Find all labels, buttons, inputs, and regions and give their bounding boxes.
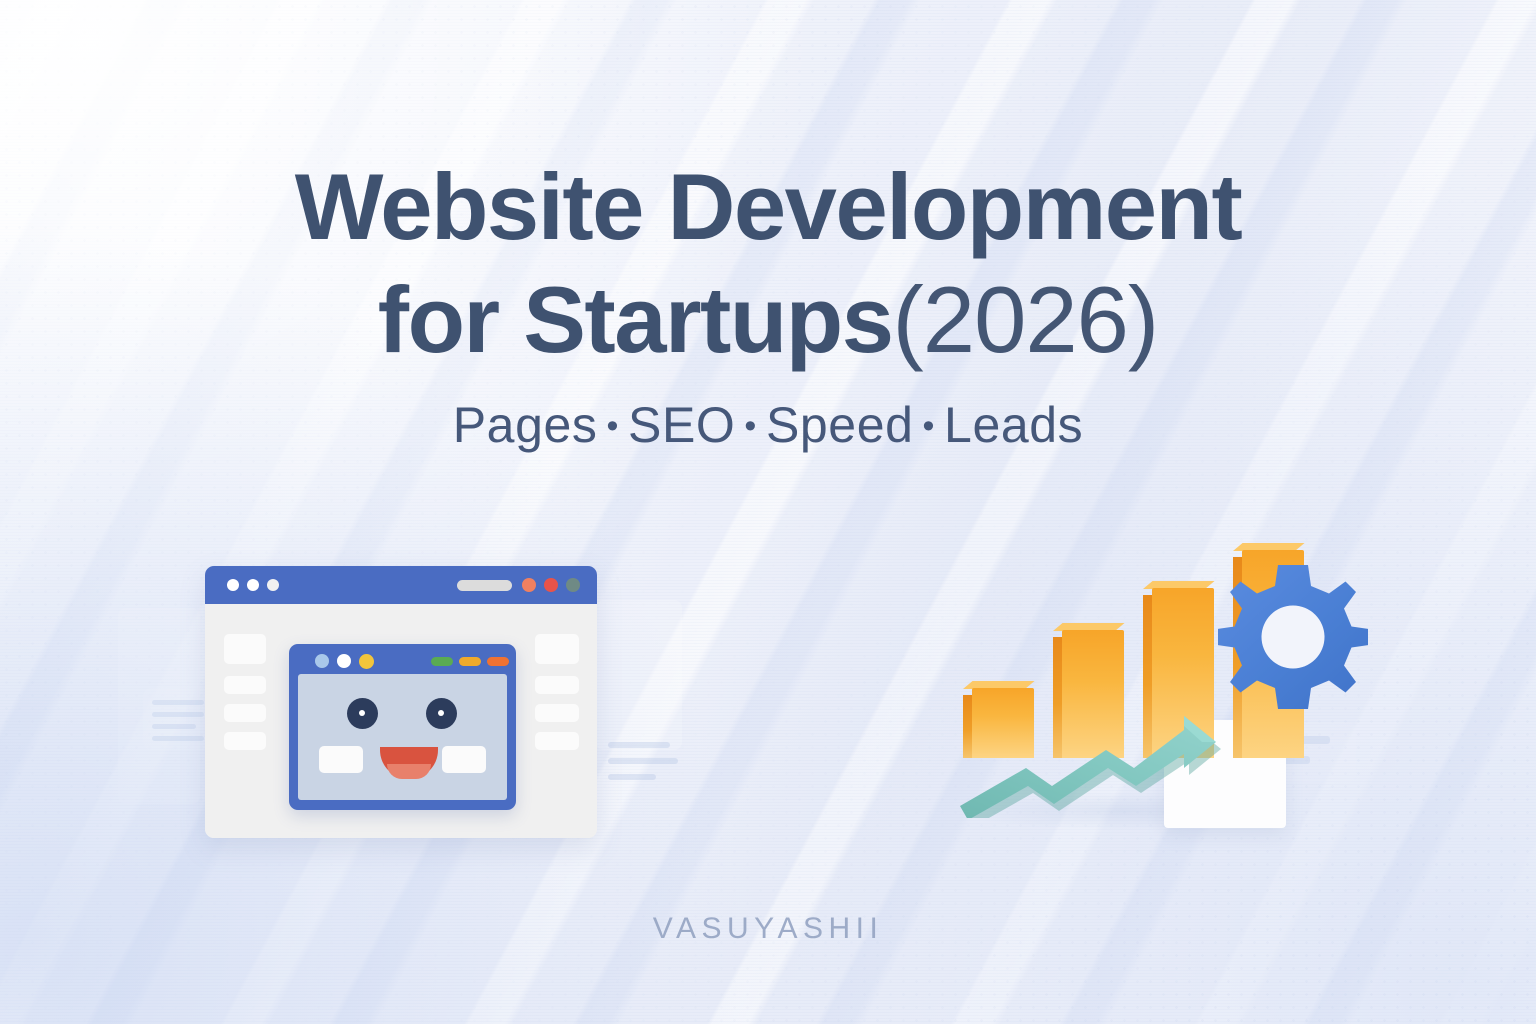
content-placeholder-block <box>224 704 266 722</box>
inner-pill-amber <box>459 657 481 666</box>
browser-window-illustration <box>205 566 597 838</box>
page-title-line-2-main: for Startups <box>378 267 893 372</box>
traffic-light-dot-1 <box>227 579 239 591</box>
bullet-separator-icon: • <box>735 407 766 446</box>
traffic-light-dot-2 <box>247 579 259 591</box>
content-placeholder-block <box>224 634 266 664</box>
headline-block: Website Development for Startups(2026) P… <box>0 152 1536 454</box>
left-cheek-block <box>319 746 363 773</box>
left-eye-icon <box>347 698 378 729</box>
subtitle-item-leads: Leads <box>944 397 1083 453</box>
inner-dot-white <box>337 654 351 668</box>
content-placeholder-block <box>535 676 579 694</box>
smile-mouth-icon <box>380 747 438 779</box>
growth-chart-illustration <box>950 552 1380 850</box>
subtitle-item-speed: Speed <box>766 397 914 453</box>
address-bar-pill <box>457 580 512 591</box>
growth-arrow-icon <box>950 658 1250 818</box>
inner-browser-window <box>289 644 516 810</box>
window-control-dot-grey <box>566 578 580 592</box>
bullet-separator-icon: • <box>598 407 629 446</box>
bullet-separator-icon: • <box>914 407 945 446</box>
page-subtitle: Pages•SEO•Speed•Leads <box>0 396 1536 454</box>
browser-titlebar <box>205 566 597 604</box>
inner-dot-blue <box>315 654 329 668</box>
page-title-line-1: Website Development <box>0 152 1536 261</box>
content-placeholder-block <box>224 732 266 750</box>
page-title-line-2: for Startups(2026) <box>0 265 1536 374</box>
window-control-dot-orange <box>522 578 536 592</box>
page-title-year: (2026) <box>892 267 1158 372</box>
gear-icon <box>1218 562 1368 712</box>
content-placeholder-block <box>535 704 579 722</box>
inner-pill-orange <box>487 657 509 666</box>
right-eye-icon <box>426 698 457 729</box>
window-control-dot-red <box>544 578 558 592</box>
content-placeholder-block <box>224 676 266 694</box>
inner-pill-green <box>431 657 453 666</box>
brand-watermark: VASUYASHII <box>0 912 1536 946</box>
content-placeholder-block <box>535 634 579 664</box>
poster-canvas: Website Development for Startups(2026) P… <box>0 0 1536 1024</box>
content-placeholder-block <box>535 732 579 750</box>
outer-browser-window <box>205 566 597 838</box>
traffic-light-dot-3 <box>267 579 279 591</box>
subtitle-item-pages: Pages <box>453 397 598 453</box>
smiley-face-screen <box>298 674 507 800</box>
subtitle-item-seo: SEO <box>628 397 735 453</box>
right-cheek-block <box>442 746 486 773</box>
inner-dot-yellow <box>359 654 374 669</box>
